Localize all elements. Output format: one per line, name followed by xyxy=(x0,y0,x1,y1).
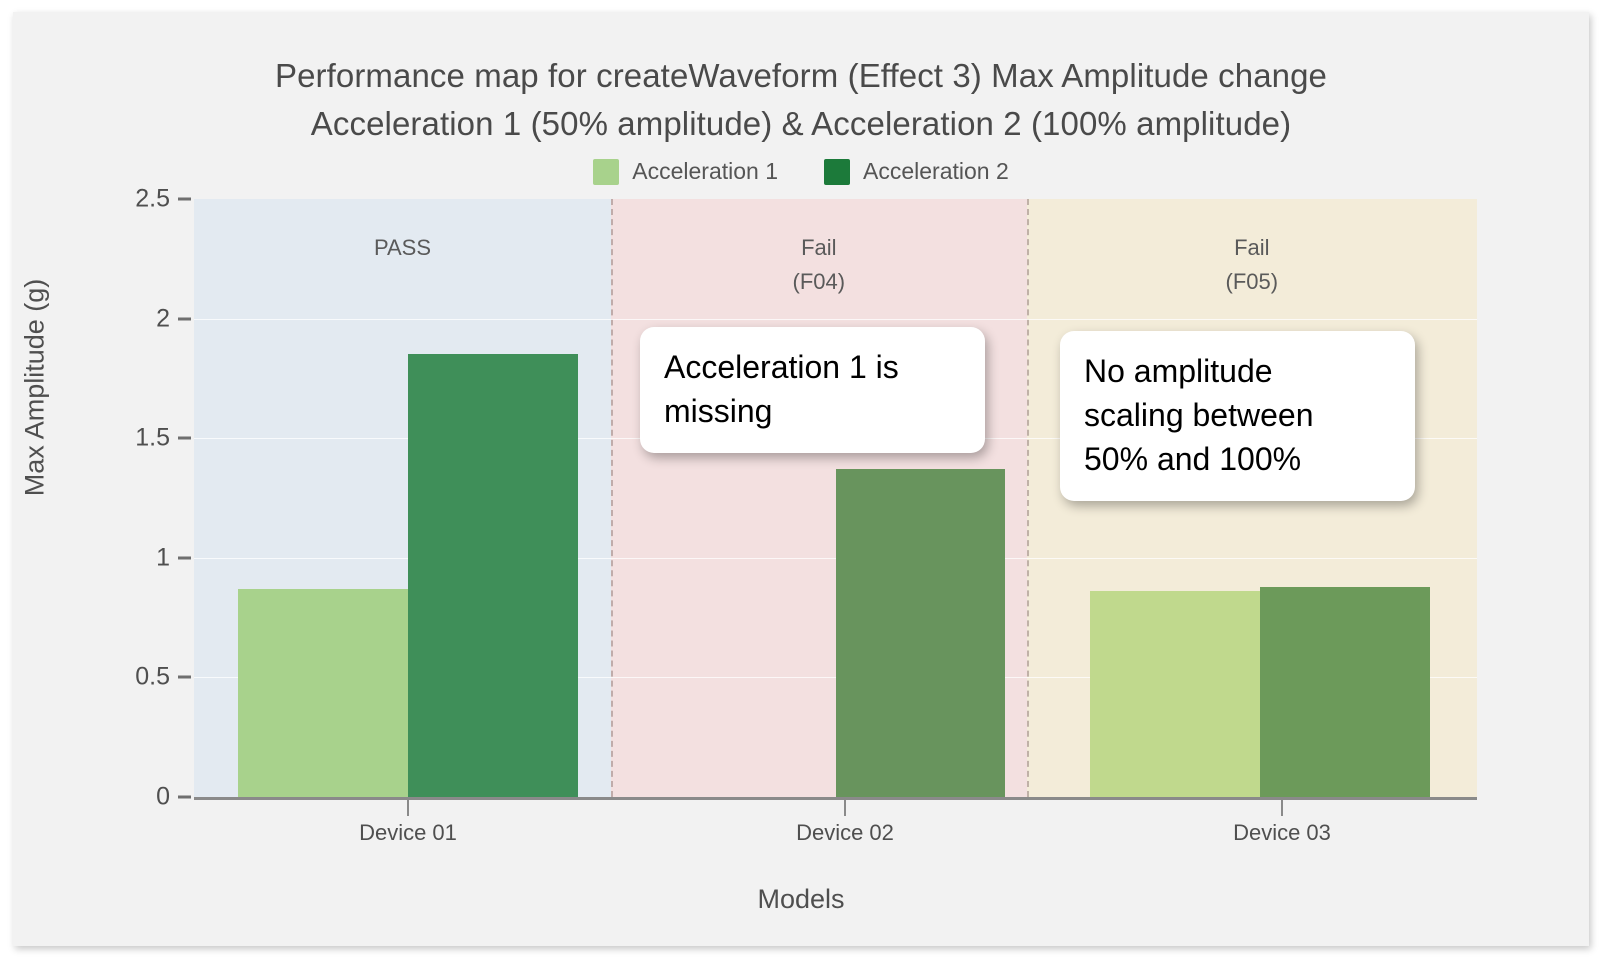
y-tick-1: 1 xyxy=(156,543,191,572)
x-tick-label-device-02: Device 02 xyxy=(796,820,894,846)
x-tick-label-device-01: Device 01 xyxy=(359,820,457,846)
y-tick-label-0: 0 xyxy=(156,783,170,812)
x-tick-mark-device-01 xyxy=(407,800,409,816)
y-axis-title: Max Amplitude (g) xyxy=(20,188,51,588)
y-tick-dash-icon xyxy=(178,317,191,320)
bar-device-03-acceleration-1[interactable] xyxy=(1090,591,1260,797)
x-tick-mark-device-02 xyxy=(844,800,846,816)
x-tick-mark-device-03 xyxy=(1281,800,1283,816)
chart-card: Performance map for createWaveform (Effe… xyxy=(13,12,1589,946)
bar-device-03-acceleration-2[interactable] xyxy=(1260,587,1430,797)
bar-device-02-acceleration-2[interactable] xyxy=(836,469,1006,797)
y-tick-dash-icon xyxy=(178,676,191,679)
y-tick-dash-icon xyxy=(178,198,191,201)
y-tick-label-1.5: 1.5 xyxy=(135,424,170,453)
y-tick-1.5: 1.5 xyxy=(135,424,191,453)
y-tick-label-2: 2 xyxy=(156,304,170,333)
zone-label-fail-f04: Fail (F04) xyxy=(611,231,1027,299)
y-tick-2.5: 2.5 xyxy=(135,185,191,214)
gridline-2 xyxy=(194,319,1477,320)
zone-label-pass: PASS xyxy=(194,231,611,265)
y-tick-label-1: 1 xyxy=(156,543,170,572)
y-tick-2: 2 xyxy=(156,304,191,333)
y-tick-0.5: 0.5 xyxy=(135,663,191,692)
plot-wrapper: Max Amplitude (g) 2.5 2 1.5 1 0.5 xyxy=(13,12,1589,946)
bar-device-01-acceleration-1[interactable] xyxy=(238,589,408,797)
y-tick-label-2.5: 2.5 xyxy=(135,185,170,214)
y-axis-ticks: 2.5 2 1.5 1 0.5 0 xyxy=(73,199,191,797)
bar-device-01-acceleration-2[interactable] xyxy=(408,354,578,797)
x-tick-label-device-03: Device 03 xyxy=(1233,820,1331,846)
y-tick-label-0.5: 0.5 xyxy=(135,663,170,692)
zone-label-fail-f05: Fail (F05) xyxy=(1027,231,1477,299)
x-axis-title: Models xyxy=(13,884,1589,915)
x-axis-line xyxy=(194,797,1477,800)
annotation-acceleration-1-missing: Acceleration 1 is missing xyxy=(640,327,985,453)
zone-divider-2 xyxy=(1027,199,1029,797)
zone-divider-1 xyxy=(611,199,613,797)
y-tick-0: 0 xyxy=(156,783,191,812)
y-tick-dash-icon xyxy=(178,556,191,559)
y-tick-dash-icon xyxy=(178,437,191,440)
annotation-no-amplitude-scaling: No amplitude scaling between 50% and 100… xyxy=(1060,331,1415,501)
y-tick-dash-icon xyxy=(178,796,191,799)
